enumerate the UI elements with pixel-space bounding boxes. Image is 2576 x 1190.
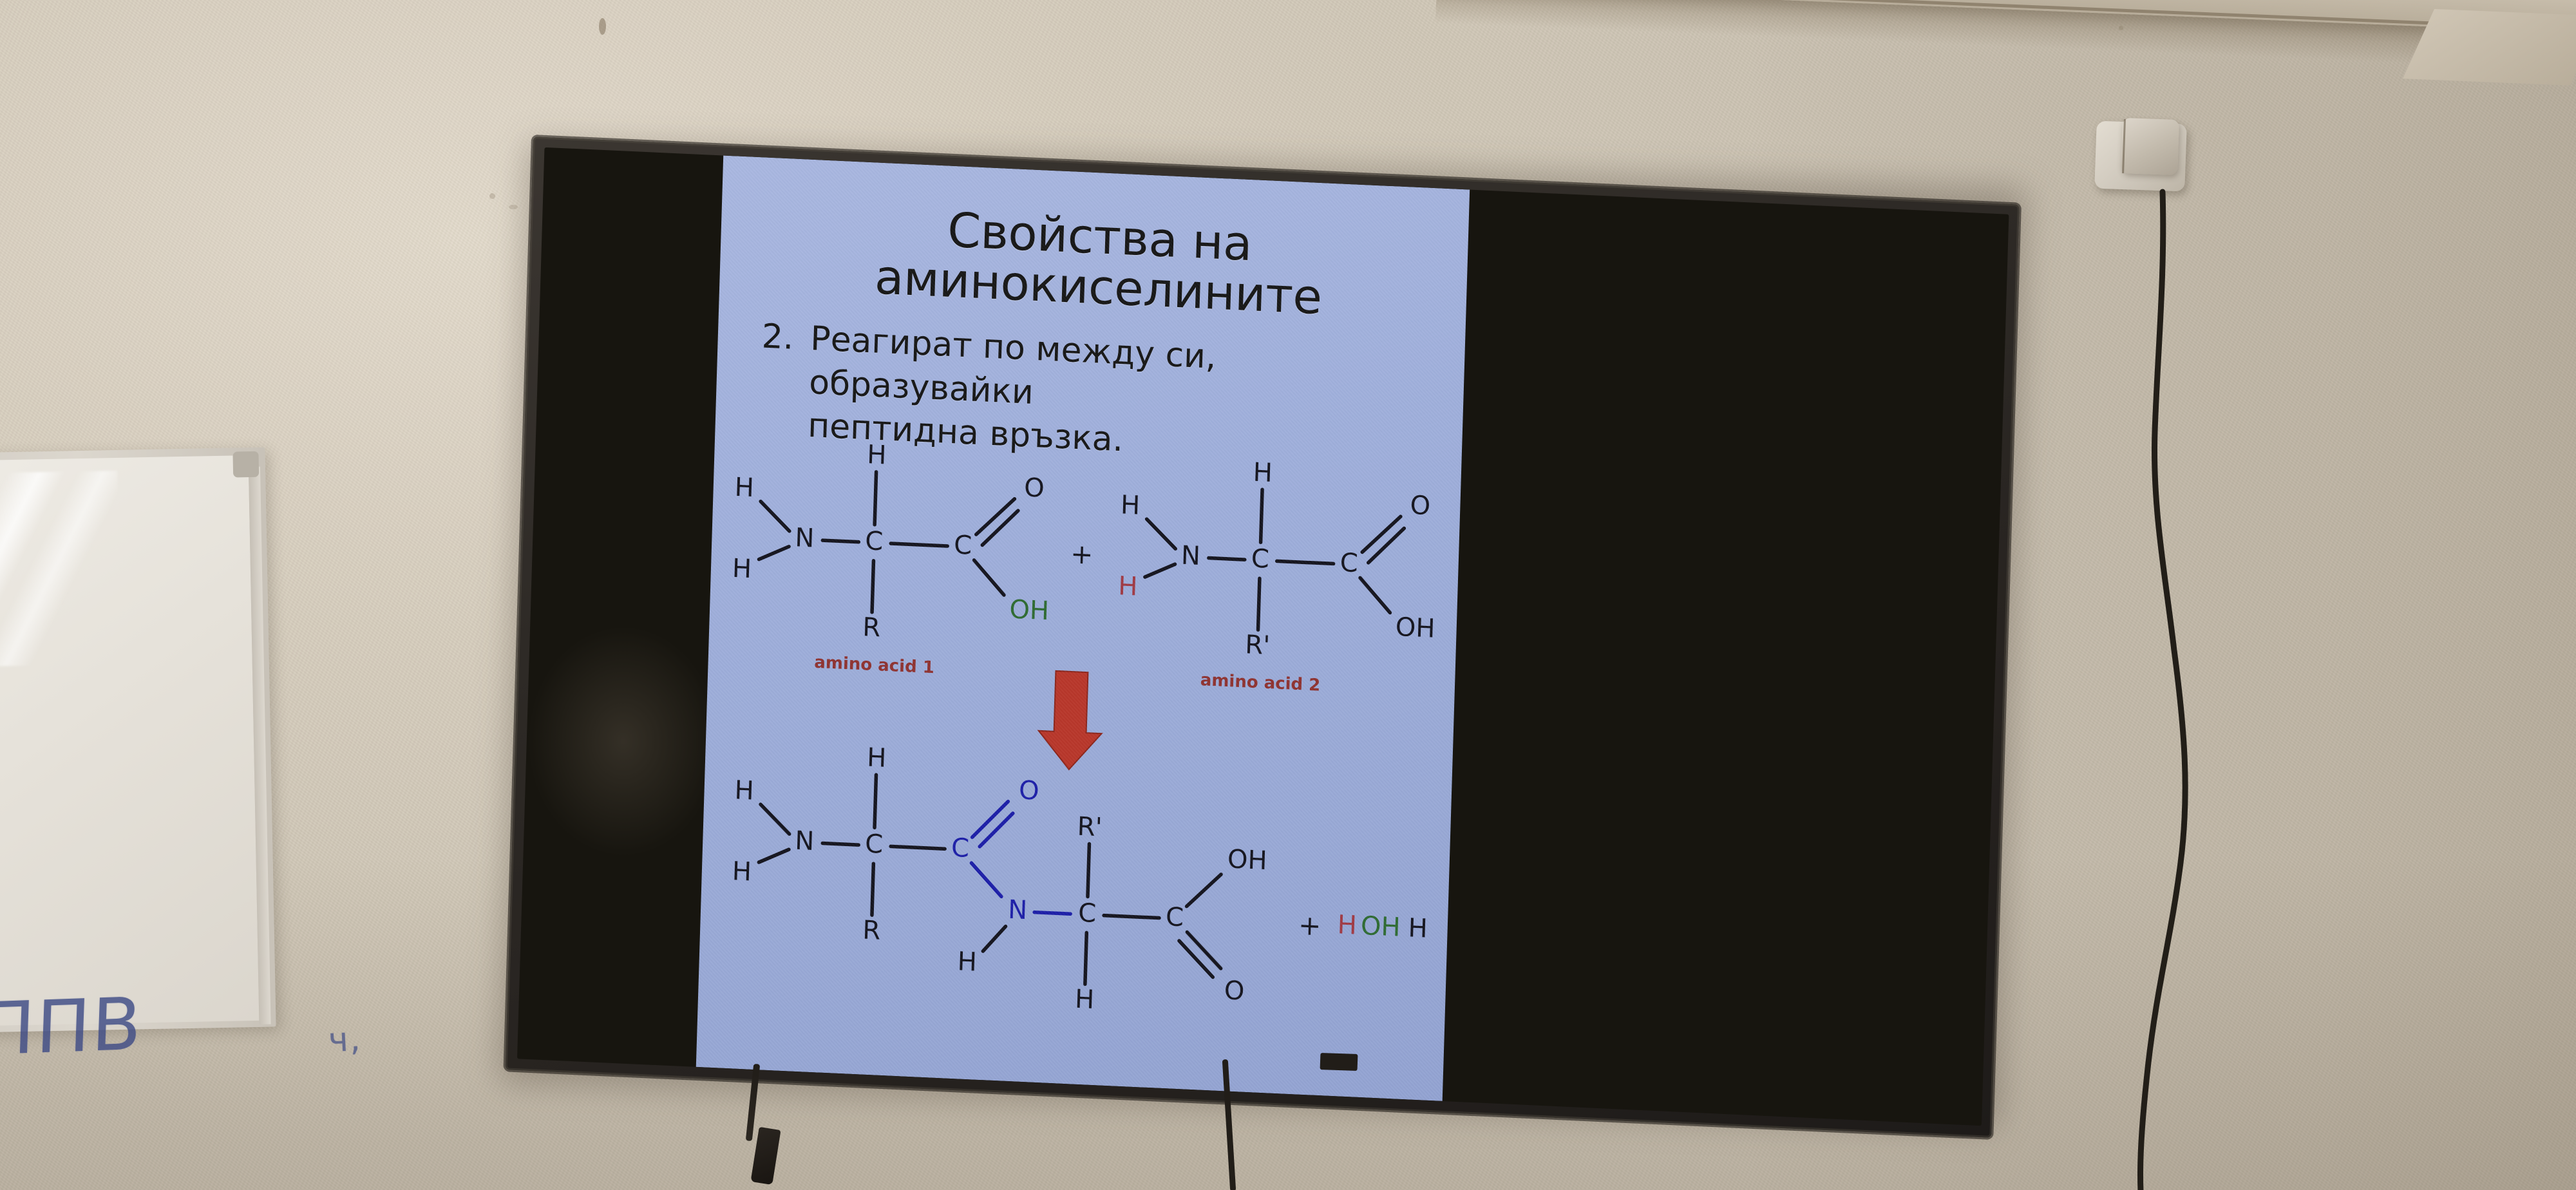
prod-peptide-nitrogen: N: [1008, 895, 1028, 925]
aa2-nitrogen: N: [1180, 541, 1200, 571]
tv-cable-clip: [1320, 1053, 1358, 1071]
slide-title: Свойства на аминокиселините: [757, 197, 1442, 328]
aa2-amine-h-bottom-reactive: H: [1118, 571, 1138, 601]
aa1-side-chain: R: [862, 612, 881, 643]
whiteboard: [0, 448, 276, 1034]
socket-plug[interactable]: [2121, 118, 2179, 175]
tv-panel: Свойства на аминокиселините 2. Реагират …: [517, 147, 2009, 1126]
reactant-amino-acid-2: H H N C H R' C: [1116, 451, 1440, 668]
wall-blemish: [489, 193, 495, 199]
wall-writing-secondary: ч,: [327, 1020, 362, 1061]
prod-side-chain-1: R: [862, 916, 881, 946]
reaction-arrow-icon: [1037, 670, 1103, 771]
presentation-slide: Свойства на аминокиселините 2. Реагират …: [696, 156, 1470, 1101]
aa2-carbonyl-oxygen: O: [1410, 491, 1431, 521]
label-amino-acid-2: amino acid 2: [1200, 670, 1320, 695]
prod-alpha-h-2: H: [1074, 985, 1094, 1015]
wall-socket[interactable]: [2094, 121, 2187, 192]
wall-blemish: [509, 205, 518, 209]
aa1-amine-h-top: H: [734, 473, 754, 503]
prod-carboxyl-carbon: C: [1165, 902, 1184, 932]
panel-reflection: [524, 621, 724, 862]
bullet-number: 2.: [761, 316, 795, 360]
water-plus-sign: +: [1298, 909, 1321, 942]
aa1-alpha-carbon: C: [865, 526, 884, 556]
prod-alpha-carbon-2: C: [1078, 898, 1097, 929]
aa2-carboxyl-carbon: C: [1340, 548, 1358, 578]
whiteboard-glare: [0, 471, 121, 668]
aa1-alpha-h: H: [867, 440, 887, 470]
aa1-amine-h-bottom: H: [732, 554, 752, 584]
prod-amine-h-top: H: [734, 775, 754, 806]
wall-blemish: [599, 18, 606, 35]
aa1-hydroxyl: OH: [1009, 594, 1050, 626]
product-dipeptide: H H N C H R: [728, 737, 1270, 1023]
prod-carboxyl-hydroxyl: OH: [1227, 844, 1267, 876]
reaction-plus-sign: +: [1070, 538, 1094, 571]
aa2-alpha-h: H: [1253, 458, 1273, 488]
aa2-hydroxyl: OH: [1395, 612, 1435, 644]
prod-peptide-oxygen: O: [1018, 775, 1039, 806]
whiteboard-surface: [0, 455, 259, 1027]
aa1-nitrogen: N: [795, 523, 815, 553]
wall-blemish: [2119, 26, 2123, 30]
reactant-amino-acid-1: H H N C H: [730, 434, 1054, 650]
ceiling-beam-corner: [2403, 9, 2576, 86]
aa2-alpha-carbon: C: [1251, 544, 1269, 574]
prod-side-chain-2: R': [1077, 812, 1103, 843]
aa2-amine-h-top: H: [1121, 490, 1141, 520]
water-byproduct: + H OH H: [1298, 908, 1428, 947]
water-hydrogen: H: [1408, 913, 1428, 943]
aa1-carboxyl-carbon: C: [954, 530, 972, 560]
water-hydroxyl-green: OH: [1360, 911, 1401, 943]
label-amino-acid-1: amino acid 1: [814, 653, 934, 678]
aa2-side-chain: R': [1245, 630, 1271, 661]
prod-peptide-n-hydrogen: H: [957, 947, 977, 977]
water-hydrogen-red: H: [1337, 910, 1357, 940]
wall-mounted-tv[interactable]: Свойства на аминокиселините 2. Реагират …: [505, 137, 2019, 1138]
prod-alpha-h-1: H: [867, 743, 887, 773]
whiteboard-corner-cap: [232, 451, 259, 478]
prod-peptide-carbon: C: [951, 833, 969, 864]
peptide-bond-diagram: .atom { font-family:"DejaVu Sans", sans-…: [698, 432, 1462, 1039]
wall-writing-ppv: ППВ: [0, 982, 144, 1072]
prod-alpha-carbon-1: C: [865, 829, 884, 860]
aa1-carbonyl-oxygen: O: [1024, 473, 1045, 503]
prod-nitrogen: N: [795, 826, 815, 856]
prod-carbonyl-oxygen: O: [1224, 976, 1245, 1006]
prod-amine-h-bottom: H: [732, 856, 752, 887]
